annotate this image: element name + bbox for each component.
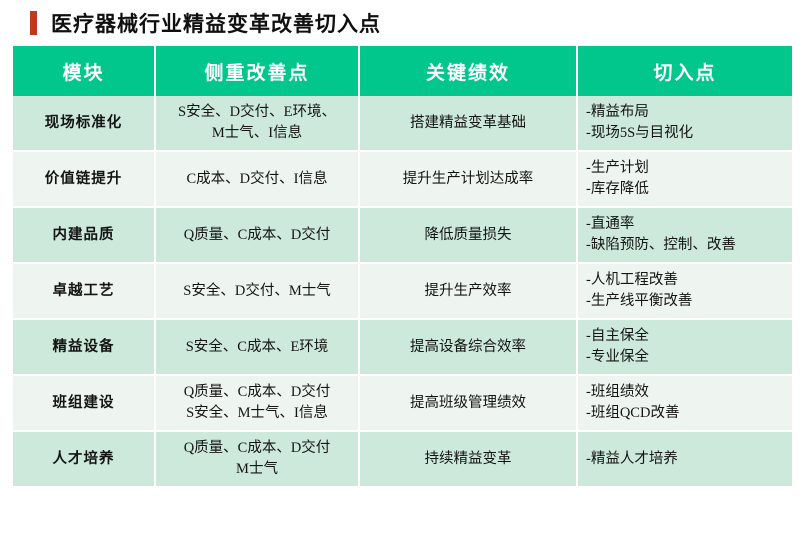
entry-line: -生产线平衡改善 xyxy=(586,291,784,312)
cell-key-performance: 提升生产计划达成率 xyxy=(360,152,578,208)
cell-module: 人才培养 xyxy=(13,432,156,488)
entry-line: -现场5S与目视化 xyxy=(586,123,784,144)
cell-key-performance: 提高班级管理绩效 xyxy=(360,376,578,432)
lean-transformation-matrix: 模块 侧重改善点 关键绩效 切入点 现场标准化S安全、D交付、E环境、M士气、I… xyxy=(13,46,792,488)
entry-line: -精益人才培养 xyxy=(586,449,784,470)
table-row: 卓越工艺S安全、D交付、M士气提升生产效率-人机工程改善-生产线平衡改善 xyxy=(13,264,792,320)
table-row: 班组建设Q质量、C成本、D交付S安全、M士气、I信息提高班级管理绩效-班组绩效-… xyxy=(13,376,792,432)
column-header-module: 模块 xyxy=(13,46,156,96)
table-row: 现场标准化S安全、D交付、E环境、M士气、I信息搭建精益变革基础-精益布局-现场… xyxy=(13,96,792,152)
page-title-text: 医疗器械行业精益变革改善切入点 xyxy=(51,8,381,38)
entry-line: -直通率 xyxy=(586,214,784,235)
column-header-kpi: 关键绩效 xyxy=(360,46,578,96)
cell-key-performance: 提高设备综合效率 xyxy=(360,320,578,376)
entry-line: -生产计划 xyxy=(586,158,784,179)
focus-line: S安全、D交付、M士气 xyxy=(164,281,350,302)
cell-entry-points: -精益人才培养 xyxy=(578,432,792,488)
header-row: 模块 侧重改善点 关键绩效 切入点 xyxy=(13,46,792,96)
cell-focus-points: S安全、D交付、M士气 xyxy=(156,264,360,320)
entry-line: -缺陷预防、控制、改善 xyxy=(586,235,784,256)
focus-line: Q质量、C成本、D交付 xyxy=(164,382,350,403)
entry-line: -人机工程改善 xyxy=(586,270,784,291)
table-row: 人才培养Q质量、C成本、D交付M士气持续精益变革-精益人才培养 xyxy=(13,432,792,488)
cell-focus-points: S安全、D交付、E环境、M士气、I信息 xyxy=(156,96,360,152)
cell-entry-points: -精益布局-现场5S与目视化 xyxy=(578,96,792,152)
cell-module: 班组建设 xyxy=(13,376,156,432)
cell-key-performance: 搭建精益变革基础 xyxy=(360,96,578,152)
focus-line: M士气、I信息 xyxy=(164,123,350,144)
focus-line: S安全、C成本、E环境 xyxy=(164,337,350,358)
page-title: 医疗器械行业精益变革改善切入点 xyxy=(0,0,806,32)
cell-entry-points: -自主保全-专业保全 xyxy=(578,320,792,376)
cell-module: 卓越工艺 xyxy=(13,264,156,320)
table-row: 精益设备S安全、C成本、E环境提高设备综合效率-自主保全-专业保全 xyxy=(13,320,792,376)
cell-key-performance: 提升生产效率 xyxy=(360,264,578,320)
cell-module: 精益设备 xyxy=(13,320,156,376)
column-header-entry: 切入点 xyxy=(578,46,792,96)
table-header: 模块 侧重改善点 关键绩效 切入点 xyxy=(13,46,792,96)
focus-line: Q质量、C成本、D交付 xyxy=(164,438,350,459)
cell-key-performance: 降低质量损失 xyxy=(360,208,578,264)
entry-line: -库存降低 xyxy=(586,179,784,200)
focus-line: M士气 xyxy=(164,459,350,480)
table-row: 价值链提升C成本、D交付、I信息提升生产计划达成率-生产计划-库存降低 xyxy=(13,152,792,208)
focus-line: C成本、D交付、I信息 xyxy=(164,169,350,190)
entry-line: -专业保全 xyxy=(586,347,784,368)
cell-entry-points: -人机工程改善-生产线平衡改善 xyxy=(578,264,792,320)
cell-key-performance: 持续精益变革 xyxy=(360,432,578,488)
title-marker-icon xyxy=(30,11,37,35)
entry-line: -精益布局 xyxy=(586,102,784,123)
table-row: 内建品质Q质量、C成本、D交付降低质量损失-直通率-缺陷预防、控制、改善 xyxy=(13,208,792,264)
cell-entry-points: -生产计划-库存降低 xyxy=(578,152,792,208)
entry-line: -班组绩效 xyxy=(586,382,784,403)
cell-focus-points: S安全、C成本、E环境 xyxy=(156,320,360,376)
cell-module: 价值链提升 xyxy=(13,152,156,208)
cell-focus-points: C成本、D交付、I信息 xyxy=(156,152,360,208)
cell-entry-points: -班组绩效-班组QCD改善 xyxy=(578,376,792,432)
entry-line: -自主保全 xyxy=(586,326,784,347)
cell-focus-points: Q质量、C成本、D交付M士气 xyxy=(156,432,360,488)
entry-line: -班组QCD改善 xyxy=(586,403,784,424)
column-header-focus: 侧重改善点 xyxy=(156,46,360,96)
focus-line: S安全、M士气、I信息 xyxy=(164,403,350,424)
focus-line: S安全、D交付、E环境、 xyxy=(164,102,350,123)
focus-line: Q质量、C成本、D交付 xyxy=(164,225,350,246)
matrix-table: 模块 侧重改善点 关键绩效 切入点 现场标准化S安全、D交付、E环境、M士气、I… xyxy=(13,46,792,488)
cell-entry-points: -直通率-缺陷预防、控制、改善 xyxy=(578,208,792,264)
cell-module: 内建品质 xyxy=(13,208,156,264)
cell-module: 现场标准化 xyxy=(13,96,156,152)
cell-focus-points: Q质量、C成本、D交付S安全、M士气、I信息 xyxy=(156,376,360,432)
table-body: 现场标准化S安全、D交付、E环境、M士气、I信息搭建精益变革基础-精益布局-现场… xyxy=(13,96,792,488)
cell-focus-points: Q质量、C成本、D交付 xyxy=(156,208,360,264)
